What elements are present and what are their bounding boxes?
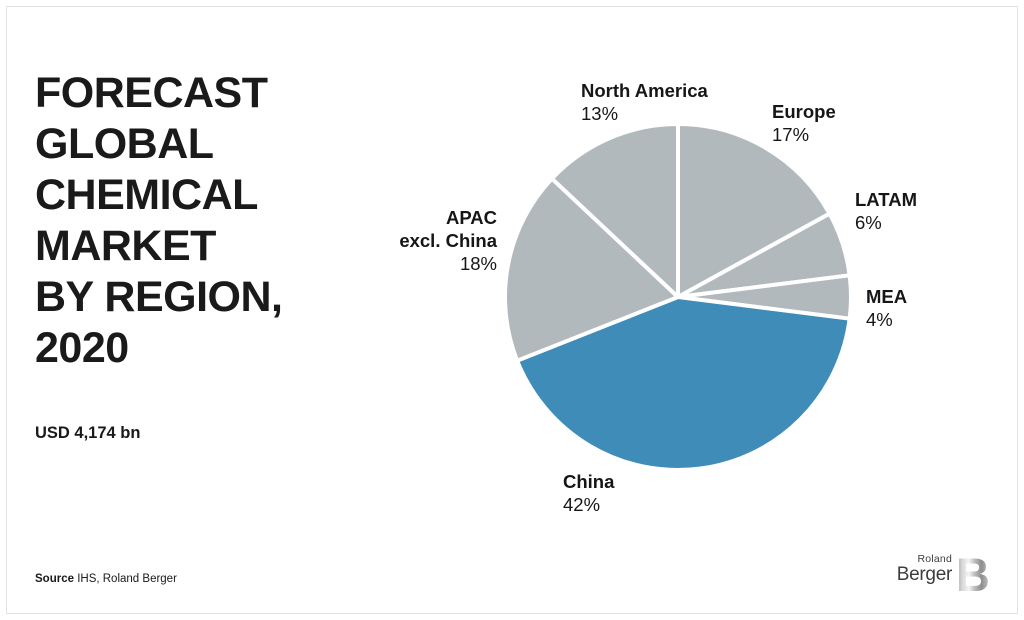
slice-label-europe: Europe 17% xyxy=(772,100,836,146)
slice-pct-north-america: 13% xyxy=(581,102,708,125)
slice-label-north-america: North America 13% xyxy=(581,79,708,125)
svg-text:B: B xyxy=(956,552,990,596)
slice-label-china: China 42% xyxy=(563,470,614,516)
pie-chart: North America 13% Europe 17% LATAM 6% ME… xyxy=(0,0,1024,620)
source-label: Source xyxy=(35,573,74,585)
slice-pct-latam: 6% xyxy=(855,211,917,234)
slice-region-north-america: North America xyxy=(581,79,708,102)
slice-pct-china: 42% xyxy=(563,493,614,516)
slice-label-apac-excl-china: APAC excl. China 18% xyxy=(337,206,497,275)
slide-canvas: FORECAST GLOBAL CHEMICAL MARKET BY REGIO… xyxy=(0,0,1024,620)
slice-region-apac-excl-china: APAC excl. China xyxy=(337,206,497,252)
slice-label-latam: LATAM 6% xyxy=(855,188,917,234)
slice-pct-mea: 4% xyxy=(866,308,907,331)
logo-wordmark: Roland Berger xyxy=(897,554,952,585)
slice-region-china: China xyxy=(563,470,614,493)
logo-line-berger: Berger xyxy=(897,565,952,585)
source-text: IHS, Roland Berger xyxy=(74,573,177,585)
slice-pct-europe: 17% xyxy=(772,123,836,146)
slice-region-latam: LATAM xyxy=(855,188,917,211)
roland-berger-logo: Roland Berger B xyxy=(886,552,996,600)
pie-slice-group xyxy=(505,124,851,470)
slice-pct-apac-excl-china: 18% xyxy=(337,252,497,275)
logo-b-mark-icon: B xyxy=(956,552,996,596)
source-note: Source IHS, Roland Berger xyxy=(35,573,177,585)
slice-region-europe: Europe xyxy=(772,100,836,123)
slice-region-mea: MEA xyxy=(866,285,907,308)
slice-label-mea: MEA 4% xyxy=(866,285,907,331)
